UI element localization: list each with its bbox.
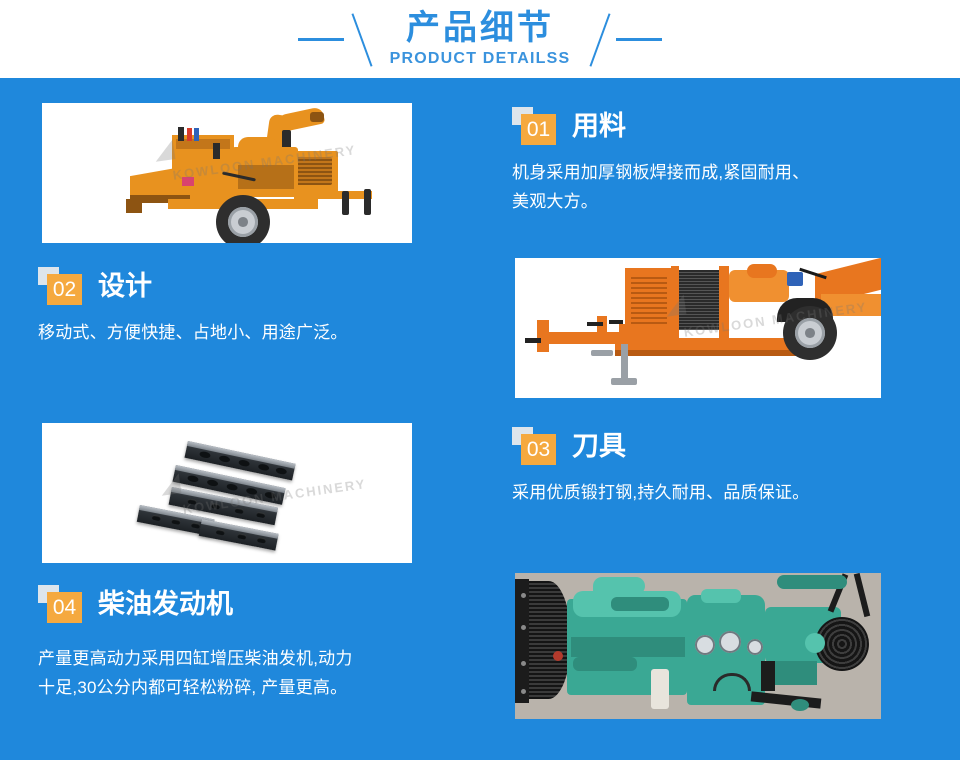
badge-orange-square-icon: 02 xyxy=(47,274,82,305)
section-title-04: 柴油发动机 xyxy=(98,589,233,619)
page-title: 产品细节 xyxy=(406,9,554,47)
section-description-03: 采用优质锻打钢,持久耐用、品质保证。 xyxy=(512,478,912,507)
section-block-02: 02 设计 移动式、方便快捷、占地小、用途广泛。 xyxy=(38,264,458,347)
header-dash-left-icon xyxy=(298,38,344,41)
section-number-04: 04 xyxy=(53,597,76,618)
section-description-02: 移动式、方便快捷、占地小、用途广泛。 xyxy=(38,318,438,347)
section-title-02: 设计 xyxy=(98,271,152,301)
section-number-02: 02 xyxy=(53,279,76,300)
section-title-01: 用料 xyxy=(572,111,626,141)
section-number-badge-04: 04 xyxy=(38,585,82,623)
cutting-blades-photo: ◢ KOWLOON MACHINERY xyxy=(42,423,412,563)
section-number-badge-03: 03 xyxy=(512,427,556,465)
header-center: 产品细节 PRODUCT DETAILSS xyxy=(298,9,663,69)
badge-orange-square-icon: 04 xyxy=(47,592,82,623)
section-heading-02: 02 设计 xyxy=(38,264,458,308)
section-heading-04: 04 柴油发动机 xyxy=(38,582,468,626)
page-header: 产品细节 PRODUCT DETAILSS xyxy=(0,0,960,78)
section-title-03: 刀具 xyxy=(572,431,626,461)
section-number-badge-02: 02 xyxy=(38,267,82,305)
page-subtitle: PRODUCT DETAILSS xyxy=(390,49,571,69)
header-slash-left-icon xyxy=(344,10,378,68)
section-description-02-line-1: 移动式、方便快捷、占地小、用途广泛。 xyxy=(38,318,438,347)
header-dash-right-icon xyxy=(616,38,662,41)
section-number-badge-01: 01 xyxy=(512,107,556,145)
section-block-03: 03 刀具 采用优质锻打钢,持久耐用、品质保证。 xyxy=(512,424,932,507)
wood-chipper-machine-photo: ◢ KOWLOON MACHINERY xyxy=(42,103,412,243)
section-description-01-line-1: 机身采用加厚钢板焊接而成,紧固耐用、 xyxy=(512,158,912,187)
section-heading-01: 01 用料 xyxy=(512,104,932,148)
section-description-04-line-1: 产量更高动力采用四缸增压柴油发机,动力 xyxy=(38,644,458,673)
section-number-03: 03 xyxy=(527,439,550,460)
section-number-01: 01 xyxy=(527,119,550,140)
section-description-04-line-2: 十足,30公分内都可轻松粉碎, 产量更高。 xyxy=(38,673,458,702)
trailer-chassis-photo: ◢ KOWLOON MACHINERY xyxy=(515,258,881,398)
product-detail-page: 产品细节 PRODUCT DETAILSS xyxy=(0,0,960,760)
badge-orange-square-icon: 01 xyxy=(521,114,556,145)
diesel-engine-photo xyxy=(515,573,881,719)
section-description-03-line-1: 采用优质锻打钢,持久耐用、品质保证。 xyxy=(512,478,912,507)
badge-orange-square-icon: 03 xyxy=(521,434,556,465)
section-description-04: 产量更高动力采用四缸增压柴油发机,动力 十足,30公分内都可轻松粉碎, 产量更高… xyxy=(38,644,458,702)
section-heading-03: 03 刀具 xyxy=(512,424,932,468)
section-description-01-line-2: 美观大方。 xyxy=(512,187,912,216)
header-slash-right-icon xyxy=(582,10,616,68)
header-titles: 产品细节 PRODUCT DETAILSS xyxy=(378,9,583,69)
section-description-01: 机身采用加厚钢板焊接而成,紧固耐用、 美观大方。 xyxy=(512,158,912,216)
section-block-04: 04 柴油发动机 产量更高动力采用四缸增压柴油发机,动力 十足,30公分内都可轻… xyxy=(38,582,468,702)
section-block-01: 01 用料 机身采用加厚钢板焊接而成,紧固耐用、 美观大方。 xyxy=(512,104,932,216)
